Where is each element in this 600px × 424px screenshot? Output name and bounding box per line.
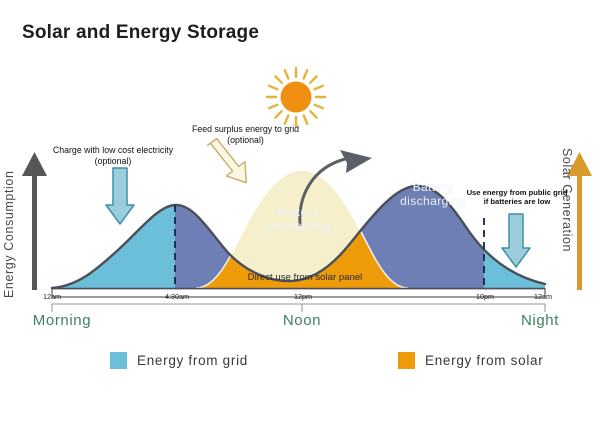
legend: Energy from grid Energy from solar — [110, 352, 543, 369]
annotation-surplus: Feed surplus energy to grid (optional) — [178, 124, 313, 146]
x-tick-430am: 4:30am — [165, 292, 189, 301]
legend-item-solar: Energy from solar — [398, 352, 543, 369]
infographic-canvas: Solar and Energy Storage — [0, 0, 600, 424]
public-grid-arrow-icon — [502, 214, 530, 267]
left-axis: Energy Consumption — [2, 148, 16, 298]
annotation-public-grid: Use energy from public grid if batteries… — [462, 188, 572, 207]
period-brackets — [52, 304, 545, 312]
period-morning: Morning — [33, 312, 91, 329]
right-axis: Solar Generation — [560, 148, 574, 298]
legend-label-solar: Energy from solar — [425, 353, 543, 368]
x-tick-10pm: 10pm — [476, 292, 494, 301]
x-tick-12am-end: 12am — [534, 292, 552, 301]
legend-swatch-grid — [110, 352, 127, 369]
left-axis-label: Energy Consumption — [2, 148, 16, 298]
charge-arrow-icon — [106, 168, 134, 224]
legend-item-grid: Energy from grid — [110, 352, 248, 369]
sun-icon — [267, 68, 325, 126]
right-axis-label: Solar Generation — [560, 148, 574, 298]
annotation-charge: Charge with low cost electricity (option… — [38, 145, 188, 167]
legend-swatch-solar — [398, 352, 415, 369]
period-night: Night — [521, 312, 559, 329]
x-tick-12am-start: 12am — [43, 292, 61, 301]
x-tick-12pm: 12pm — [294, 292, 312, 301]
energy-consumption-arrow-icon — [22, 152, 47, 290]
legend-label-grid: Energy from grid — [137, 353, 248, 368]
period-noon: Noon — [283, 312, 321, 329]
